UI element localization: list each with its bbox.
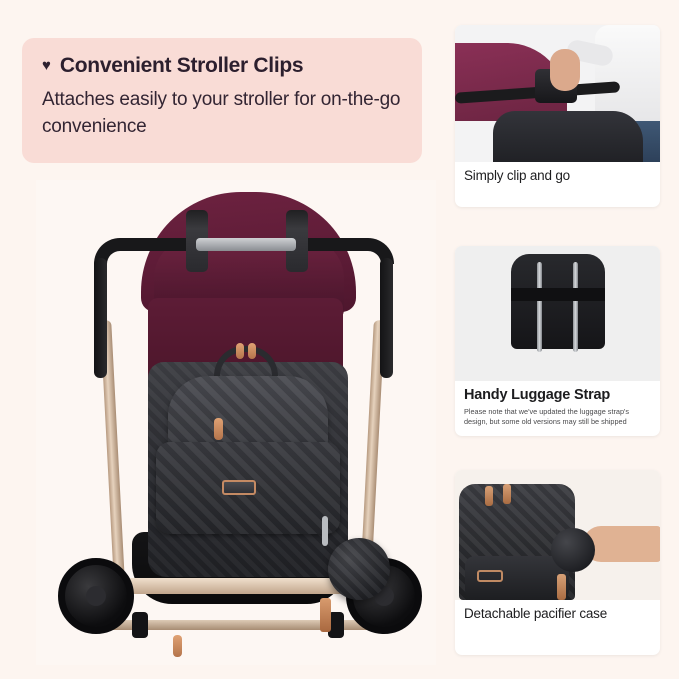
handlebar-arm-left xyxy=(94,258,107,378)
stroller-caster-left xyxy=(132,612,148,638)
callout-body: Attaches easily to your stroller for on-… xyxy=(42,87,402,141)
scene-luggage-handle-left xyxy=(537,262,542,352)
scene-person-hand xyxy=(583,526,660,562)
scene-nameplate-badge xyxy=(477,570,503,582)
card-caption: Simply clip and go xyxy=(455,162,660,184)
card-photo-pacifier-case xyxy=(455,470,660,600)
hero-product-photo xyxy=(36,180,436,665)
zipper-pull-lower xyxy=(173,635,182,657)
stroller-clip-crossbar xyxy=(196,238,296,251)
scene-backpack xyxy=(511,254,605,349)
card-caption: Handy Luggage Strap xyxy=(455,381,660,404)
scene-leather-tassel xyxy=(557,574,566,600)
wheel-hub-left xyxy=(86,586,106,606)
callout-title-row: ♥ Convenient Stroller Clips xyxy=(42,54,402,78)
zipper-pull-top-left xyxy=(236,343,244,359)
zipper-pull-top-right xyxy=(248,343,256,359)
handlebar-arm-right xyxy=(380,258,393,378)
leather-tassel xyxy=(320,598,331,632)
backpack-nameplate-badge xyxy=(222,480,256,495)
scene-zipper-pull-right xyxy=(503,484,511,504)
scene-luggage-handle-right xyxy=(573,262,578,352)
callout-title: Convenient Stroller Clips xyxy=(60,54,303,78)
feature-card-pacifier-case: Detachable pacifier case xyxy=(455,470,660,655)
zipper-pull-side xyxy=(214,418,223,440)
card-disclaimer-note: Please note that we've updated the lugga… xyxy=(455,404,660,428)
scene-suitcase xyxy=(503,342,613,381)
card-caption: Detachable pacifier case xyxy=(455,600,660,622)
hero-canvas xyxy=(36,180,436,665)
product-feature-infographic: ♥ Convenient Stroller Clips Attaches eas… xyxy=(0,0,679,679)
card-photo-luggage-strap xyxy=(455,246,660,381)
feature-card-luggage-strap: Handy Luggage Strap Please note that we'… xyxy=(455,246,660,436)
stroller-wheel-left xyxy=(58,558,134,634)
heart-icon: ♥ xyxy=(42,58,51,73)
pacifier-case xyxy=(328,538,390,600)
scene-person-hand xyxy=(550,49,580,91)
scene-backpack xyxy=(493,111,643,162)
scene-person-torso xyxy=(595,25,660,125)
scene-luggage-strap xyxy=(511,288,605,301)
scene-zipper-pull-left xyxy=(485,486,493,506)
feature-card-clip-and-go: Simply clip and go xyxy=(455,25,660,207)
scene-pacifier-case xyxy=(551,528,595,572)
feature-callout-card: ♥ Convenient Stroller Clips Attaches eas… xyxy=(22,38,422,163)
pacifier-case-clip xyxy=(322,516,328,546)
card-photo-clip-and-go xyxy=(455,25,660,162)
